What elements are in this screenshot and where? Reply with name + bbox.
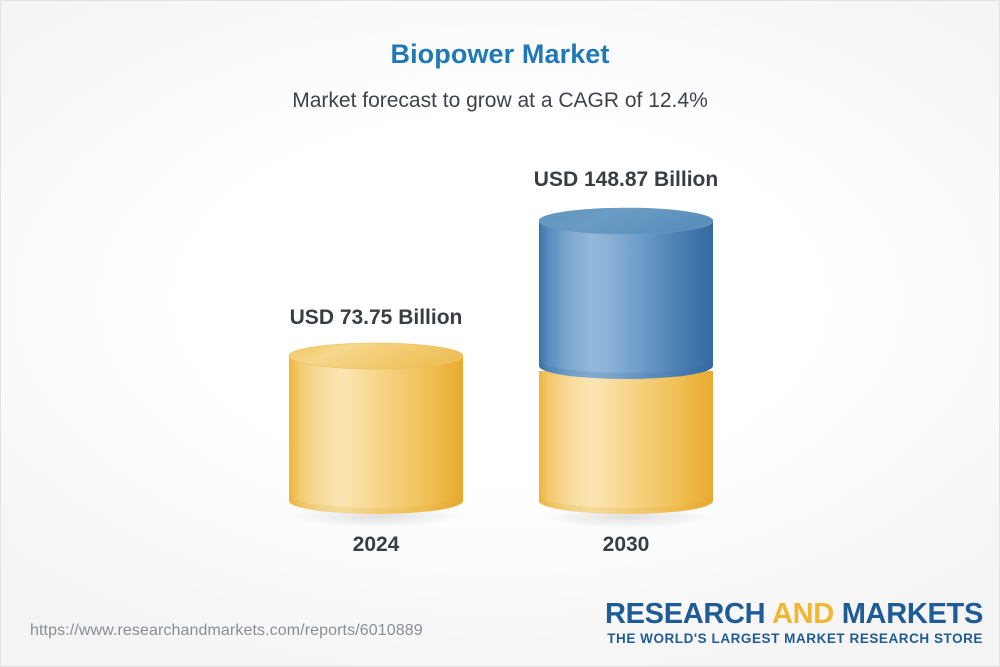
chart-canvas: Biopower Market Market forecast to grow … xyxy=(0,0,1000,667)
brand-logo[interactable]: RESEARCH AND MARKETS THE WORLD'S LARGEST… xyxy=(605,599,983,648)
brand-word-research: RESEARCH xyxy=(605,598,765,630)
brand-wordmark: RESEARCH AND MARKETS xyxy=(605,599,983,629)
plot-area: USD 73.75 Billion xyxy=(1,1,1000,601)
brand-word-and: AND xyxy=(772,598,834,630)
brand-word-markets: MARKETS xyxy=(842,598,983,630)
category-label-2030: 2030 xyxy=(556,533,696,557)
bar-group-2030: USD 148.87 Billion xyxy=(1,1,1000,601)
value-label-2030: USD 148.87 Billion xyxy=(506,168,746,192)
source-url[interactable]: https://www.researchandmarkets.com/repor… xyxy=(30,622,423,640)
brand-tagline: THE WORLD'S LARGEST MARKET RESEARCH STOR… xyxy=(605,631,983,647)
bar-cylinder-2030[interactable] xyxy=(531,200,731,532)
